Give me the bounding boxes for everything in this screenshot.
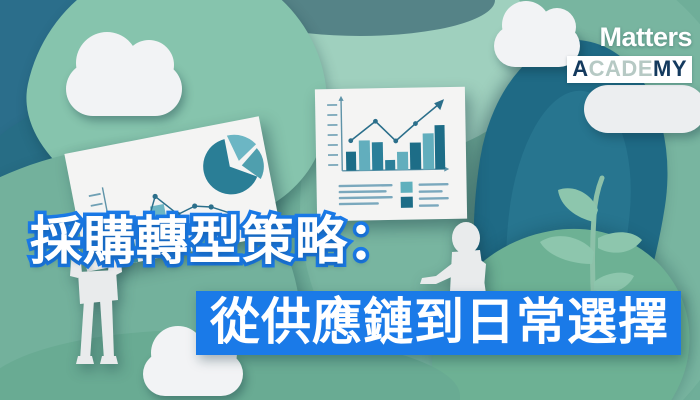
cloud-icon [143,352,243,396]
rounded-pill-shape [584,85,700,133]
headline-line-2: 從供應鏈到日常選擇 [210,297,669,347]
legend-swatch-light [400,182,412,193]
legend-swatch-dark [401,197,413,208]
brand-logo: Matters ACADEMY [560,24,692,83]
banner: Matters ACADEMY 採購轉型策略： 從供應鏈到日常選擇 [0,0,700,400]
brand-academy-segment-my: MY [653,56,687,81]
brand-name-matters: Matters [560,24,692,51]
headline-line-2-box: 從供應鏈到日常選擇 [196,291,681,355]
headline-line-1: 採購轉型策略： [30,216,401,268]
pie-chart-inset [198,130,269,199]
cloud-icon [66,62,182,116]
plant-sprout-icon [528,172,668,307]
brand-academy-box: ACADEMY [567,56,692,83]
bar-line-chart-graphic [315,87,467,222]
bar-line-chart-poster [315,87,467,222]
brand-academy-segment-a: A [572,56,588,81]
brand-academy-segment-cade: CADE [589,56,653,81]
